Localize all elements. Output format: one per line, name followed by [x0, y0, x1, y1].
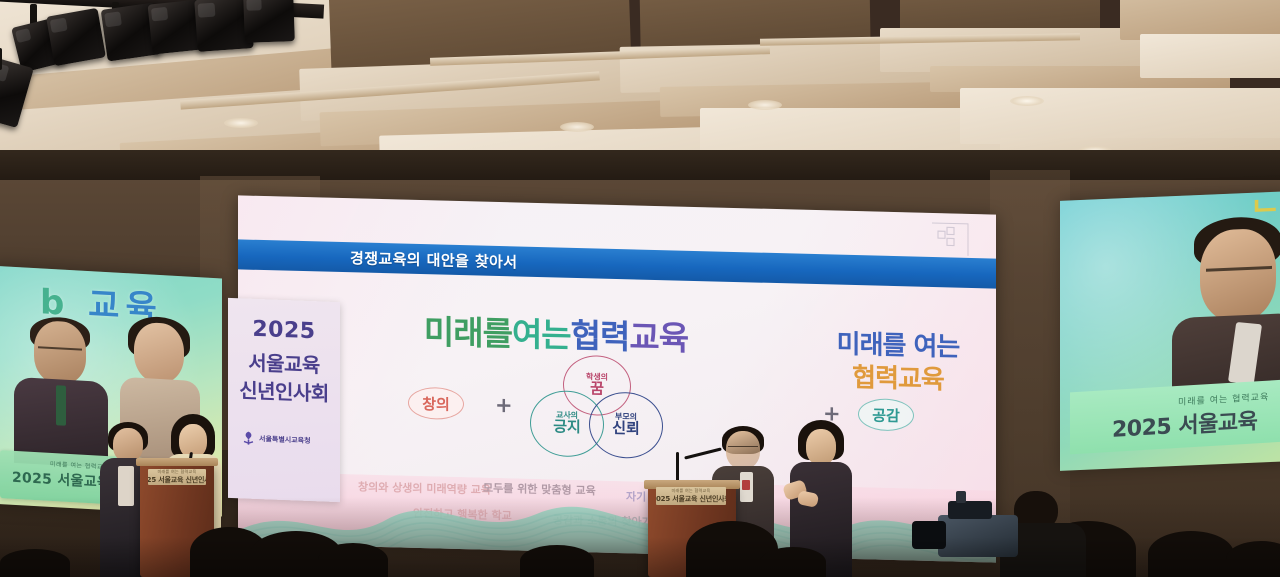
right-screen-banner: 미래를 여는 협력교육 2025 서울교육 — [1070, 379, 1280, 454]
slide-right-headline: 미래를 여는 협력교육 — [798, 328, 996, 398]
plus-operator-1: + — [495, 393, 513, 417]
venn-trust-big: 신뢰 — [612, 421, 640, 437]
podium-center-sign: 미래를 여는 협력교육 2025 서울교육 신년인사회 — [656, 487, 726, 505]
headline-part-3: 협력 — [571, 316, 630, 356]
poster-line2: 신년인사회 — [228, 374, 340, 407]
venn-pride-big: 긍지 — [553, 420, 581, 436]
side-panel-poster: 2025 서울교육 신년인사회 서울특별시교육청 — [228, 298, 340, 502]
photo-scene: b 교육 미래를 여는 협력교육 2025 서울교육 신년인사회 경쟁교육의 대… — [0, 0, 1280, 577]
right-banner-title: 2025 서울교육 — [1112, 403, 1257, 444]
corner-ornament-icon — [930, 221, 970, 258]
headline-part-2: 여는 — [512, 314, 571, 354]
seoul-education-logo-icon — [242, 430, 255, 445]
slide-banner-text: 경쟁교육의 대안을 찾아서 — [350, 247, 517, 272]
podium-center-sign-main: 2025 서울교육 신년인사회 — [656, 494, 726, 504]
right-projection-screen: ᄂ 미래를 여는 협력교육 2025 서울교육 — [1060, 191, 1280, 471]
chip-empathy-label: 공감 — [872, 404, 900, 426]
left-screen-speaker-image — [12, 319, 110, 464]
slide-headline: 미래를여는협력교육 — [406, 305, 706, 361]
poster-org: 서울특별시교육청 — [259, 434, 311, 446]
stage-light — [243, 0, 295, 43]
chip-empathy: 공감 — [858, 398, 914, 431]
venn-dream-big: 꿈 — [590, 382, 604, 398]
right-headline-line1: 미래를 여는 — [798, 328, 996, 366]
poster-year: 2025 — [228, 316, 340, 345]
headline-part-1: 미래를 — [424, 312, 512, 353]
venn-circle-trust: 부모의 신뢰 — [589, 391, 663, 459]
stage-light — [46, 8, 106, 66]
podium-left-sign-main: 2025 서울교육 신년인사회 — [148, 475, 206, 485]
chip-creativity: 창의 — [408, 387, 464, 420]
right-headline-line2: 협력교육 — [798, 360, 996, 398]
foreground-vignette — [0, 537, 1280, 577]
chip-creativity-label: 창의 — [422, 393, 450, 415]
podium-left-top — [136, 458, 218, 466]
podium-left-sign: 미래를 여는 협력교육 2025 서울교육 신년인사회 — [148, 469, 206, 485]
headline-part-4: 교육 — [629, 317, 688, 357]
